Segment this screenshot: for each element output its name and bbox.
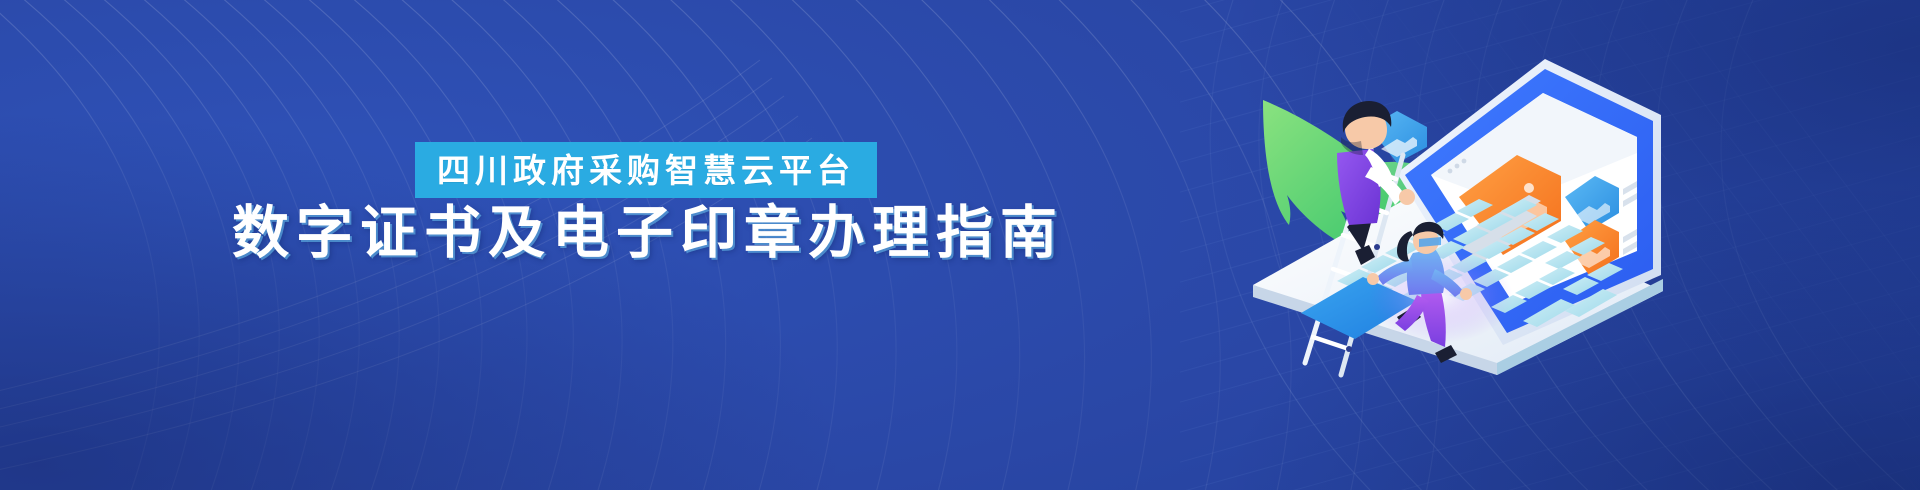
banner-copy: 四川政府采购智慧云平台 数字证书及电子印章办理指南 xyxy=(0,0,1150,490)
isometric-laptop-illustration xyxy=(1245,45,1665,375)
banner-title: 数字证书及电子印章办理指南 xyxy=(232,205,1064,262)
banner-root: 四川政府采购智慧云平台 数字证书及电子印章办理指南 xyxy=(0,0,1920,490)
platform-badge: 四川政府采购智慧云平台 xyxy=(415,142,877,198)
